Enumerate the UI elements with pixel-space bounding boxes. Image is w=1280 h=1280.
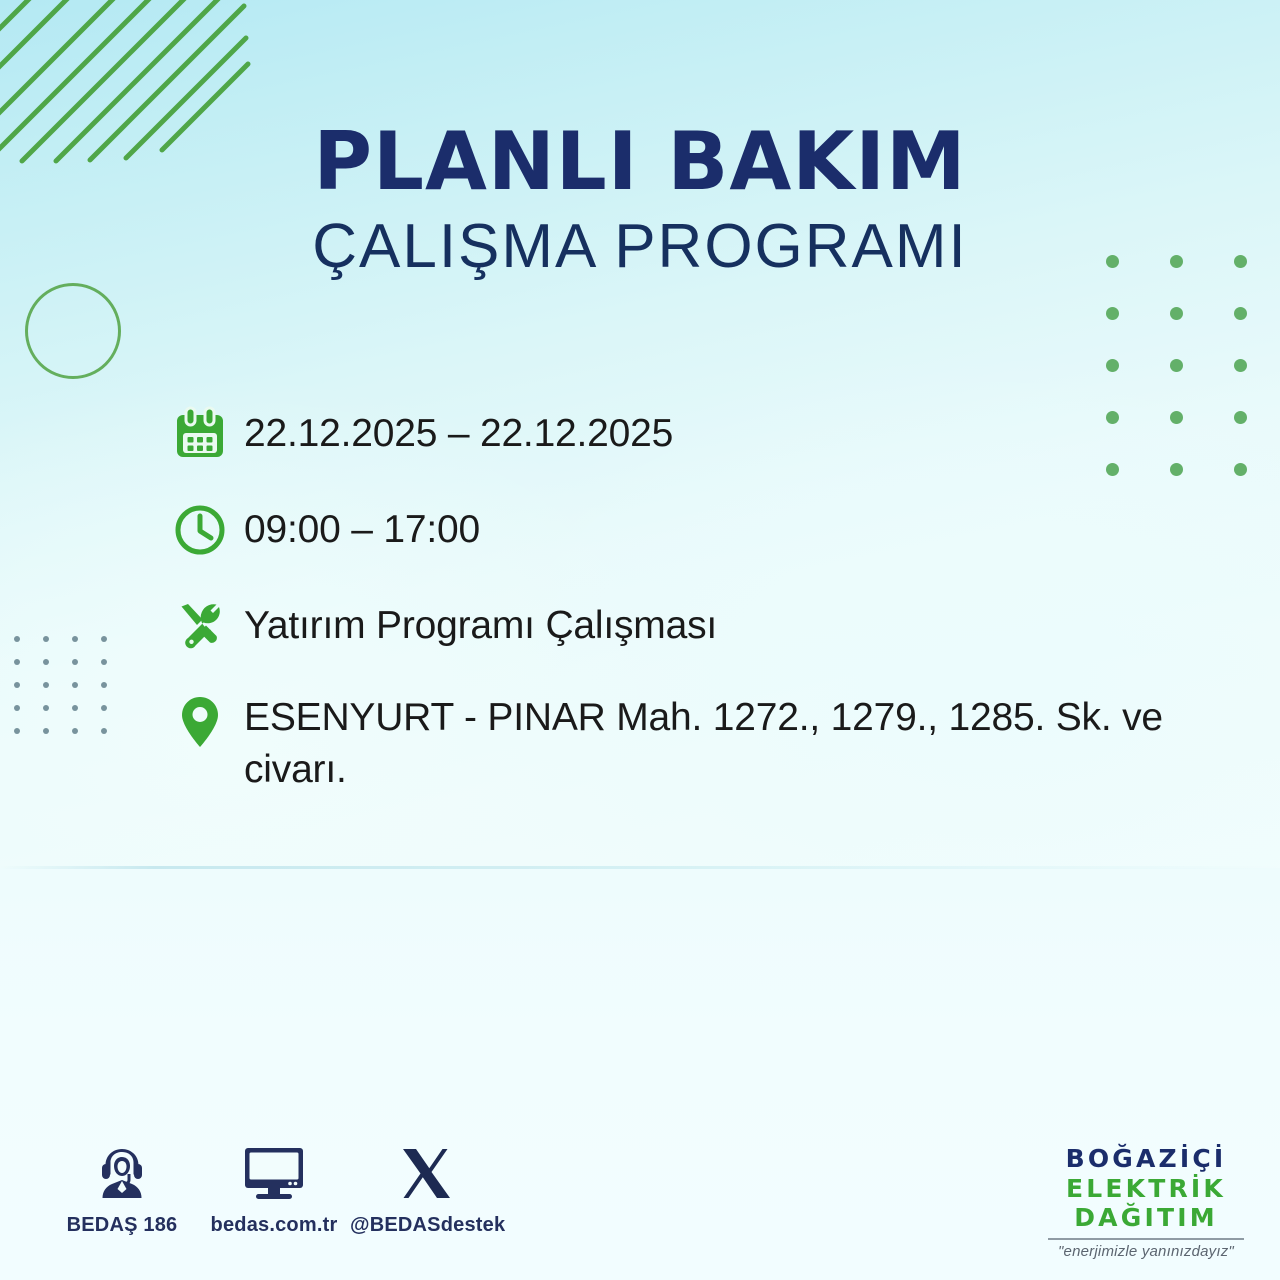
- decoration-dot: [101, 705, 107, 711]
- decoration-dot: [1234, 411, 1247, 424]
- decoration-dot: [43, 636, 49, 642]
- decoration-dot: [72, 705, 78, 711]
- decoration-dot: [1170, 359, 1183, 372]
- brand-tagline: "enerjimizle yanınızdayız": [1040, 1243, 1252, 1260]
- contact-website-label: bedas.com.tr: [198, 1214, 350, 1237]
- x-twitter-icon: [350, 1138, 502, 1204]
- time-range-value: 09:00 – 17:00: [244, 496, 1232, 556]
- decoration-dot: [1170, 307, 1183, 320]
- location-pin-icon: [172, 688, 244, 756]
- info-row-time: 09:00 – 17:00: [172, 496, 1232, 564]
- brand-line-elektrik: ELEKTRİK: [1040, 1174, 1252, 1204]
- monitor-icon: [198, 1138, 350, 1204]
- poster-canvas: PLANLI BAKIM ÇALIŞMA PROGRAMI: [0, 0, 1280, 1280]
- decoration-dot: [14, 636, 20, 642]
- circle-outline-decoration: [25, 283, 121, 379]
- contact-social-label: @BEDASdestek: [350, 1214, 502, 1237]
- bedas-logo: BOĞAZİÇİ ELEKTRİK DAĞITIM "enerjimizle y…: [1040, 1144, 1252, 1260]
- support-agent-icon: [46, 1138, 198, 1204]
- decoration-dot: [43, 659, 49, 665]
- decoration-dot: [43, 728, 49, 734]
- calendar-icon: [172, 400, 244, 468]
- brand-line-bogazici: BOĞAZİÇİ: [1040, 1144, 1252, 1174]
- work-type-value: Yatırım Programı Çalışması: [244, 592, 1232, 652]
- decoration-dot: [101, 728, 107, 734]
- decoration-dot: [14, 705, 20, 711]
- clock-icon: [172, 496, 244, 564]
- decoration-dot: [72, 636, 78, 642]
- date-range-value: 22.12.2025 – 22.12.2025: [244, 400, 1232, 460]
- brand-divider: [1048, 1238, 1244, 1240]
- outage-info-list: 22.12.2025 – 22.12.2025 09:00 – 17:00: [172, 400, 1232, 825]
- page-title: PLANLI BAKIM: [0, 122, 1280, 202]
- decoration-dot: [72, 659, 78, 665]
- info-row-work-type: Yatırım Programı Çalışması: [172, 592, 1232, 660]
- contact-social[interactable]: @BEDASdestek: [350, 1138, 502, 1237]
- decoration-dot: [1106, 359, 1119, 372]
- contact-website[interactable]: bedas.com.tr: [198, 1138, 350, 1237]
- page-subtitle: ÇALIŞMA PROGRAMI: [0, 214, 1280, 279]
- decoration-dot: [43, 705, 49, 711]
- poster-footer: BEDAŞ 186 bedas.com.tr: [0, 1138, 1280, 1280]
- decoration-dot: [1234, 463, 1247, 476]
- contact-channels: BEDAŞ 186 bedas.com.tr: [46, 1138, 502, 1237]
- decoration-dot: [14, 659, 20, 665]
- decoration-dot: [1106, 307, 1119, 320]
- decoration-dot: [14, 682, 20, 688]
- info-row-date: 22.12.2025 – 22.12.2025: [172, 400, 1232, 468]
- decoration-dot: [1234, 307, 1247, 320]
- decoration-dot: [72, 728, 78, 734]
- brand-line-dagitim: DAĞITIM: [1040, 1203, 1252, 1233]
- decoration-dot: [101, 682, 107, 688]
- background-seam-divider: [0, 866, 1280, 869]
- affected-area-value: ESENYURT - PINAR Mah. 1272., 1279., 1285…: [244, 688, 1184, 797]
- poster-header: PLANLI BAKIM ÇALIŞMA PROGRAMI: [0, 122, 1280, 279]
- decoration-dot: [101, 636, 107, 642]
- info-row-location: ESENYURT - PINAR Mah. 1272., 1279., 1285…: [172, 688, 1232, 797]
- tools-icon: [172, 592, 244, 660]
- dot-grid-left-decoration: [14, 636, 114, 732]
- decoration-dot: [72, 682, 78, 688]
- decoration-dot: [101, 659, 107, 665]
- decoration-dot: [1234, 359, 1247, 372]
- contact-phone-label: BEDAŞ 186: [46, 1214, 198, 1237]
- decoration-dot: [43, 682, 49, 688]
- decoration-dot: [14, 728, 20, 734]
- contact-phone[interactable]: BEDAŞ 186: [46, 1138, 198, 1237]
